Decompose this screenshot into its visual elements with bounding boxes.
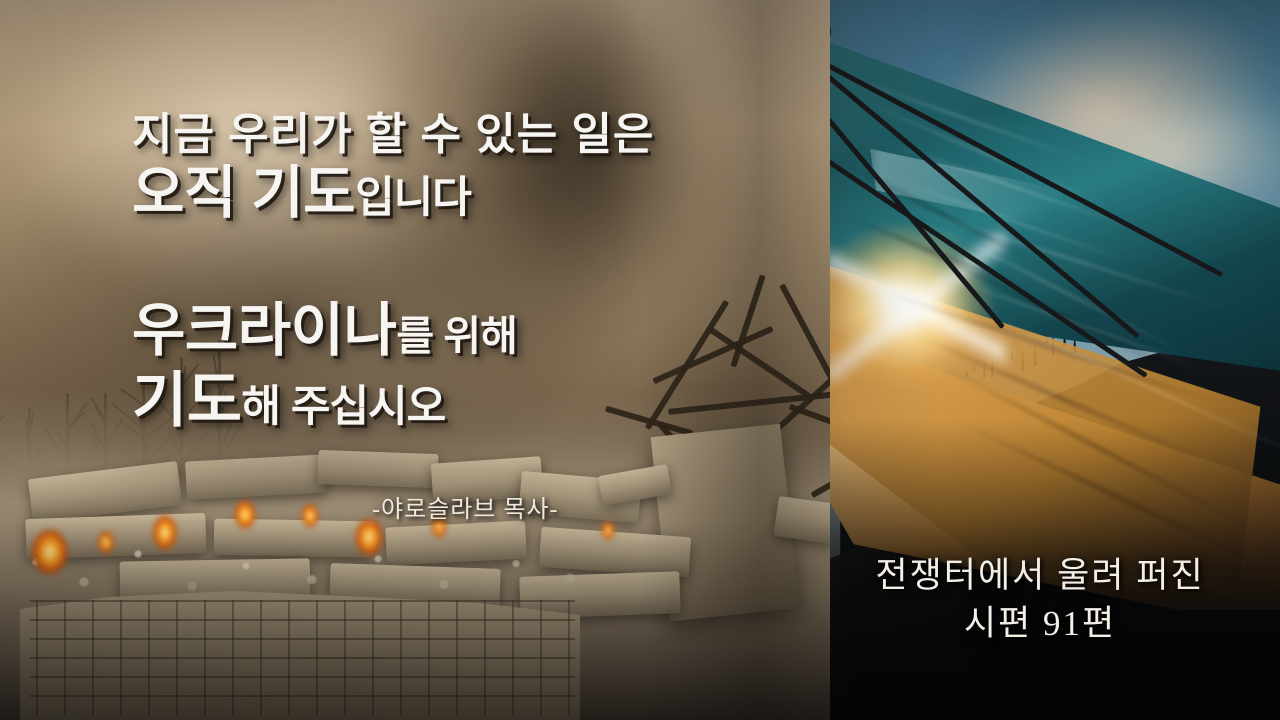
mortar-column	[344, 600, 346, 715]
mortar-column	[204, 600, 206, 715]
mortar-column	[232, 600, 234, 715]
headline-line-1: 지금 우리가 할 수 있는 일은	[132, 112, 812, 159]
headline-line-2: 오직 기도입니다	[132, 163, 812, 223]
mortar-column	[400, 600, 402, 715]
mortar-line	[30, 600, 575, 602]
flame-icon	[600, 512, 616, 542]
mortar-column	[512, 600, 514, 715]
headline-line-3-strong: 우크라이나	[132, 298, 396, 363]
headline-line-2-tail: 입니다	[355, 174, 471, 222]
mortar-line	[30, 676, 575, 678]
mortar-column	[428, 600, 430, 715]
mortar-column	[64, 600, 66, 715]
mortar-column	[456, 600, 458, 715]
headline-block-primary: 지금 우리가 할 수 있는 일은 오직 기도입니다	[132, 112, 812, 223]
headline-line-3-tail: 를 위해	[396, 313, 517, 359]
debris-slab	[317, 450, 438, 488]
headline-line-3: 우크라이나를 위해	[132, 300, 812, 363]
headline-block-secondary: 우크라이나를 위해 기도해 주십시오	[132, 300, 812, 433]
mortar-line	[30, 695, 575, 697]
mortar-column	[568, 600, 570, 715]
mortar-column	[288, 600, 290, 715]
headline-line-4-strong: 기도	[132, 367, 241, 434]
mortar-column	[540, 600, 542, 715]
mortar-line	[30, 638, 575, 640]
subtitle-block: 전쟁터에서 울려 퍼진 시편 91편	[830, 552, 1250, 647]
mortar-column	[120, 600, 122, 715]
poster-canvas: 지금 우리가 할 수 있는 일은 오직 기도입니다 우크라이나를 위해 기도해 …	[0, 0, 1280, 720]
subtitle-line-1: 전쟁터에서 울려 퍼진	[830, 552, 1250, 600]
headline-line-2-strong: 오직 기도	[132, 161, 355, 225]
debris-slab	[774, 496, 830, 544]
mortar-line	[30, 657, 575, 659]
mortar-column	[372, 600, 374, 715]
mortar-column	[92, 600, 94, 715]
headline-line-4-tail: 해 주십시오	[241, 383, 445, 431]
mortar-column	[316, 600, 318, 715]
sun-starburst-icon	[826, 232, 1006, 382]
flame-icon	[96, 520, 116, 556]
attribution-line: -야로슬라브 목사-	[372, 489, 559, 524]
subtitle-line-2: 시편 91편	[830, 600, 1250, 648]
headline-line-4: 기도해 주십시오	[132, 369, 812, 434]
mortar-line	[30, 619, 575, 621]
mortar-column	[36, 600, 38, 715]
mortar-column	[176, 600, 178, 715]
mortar-column	[148, 600, 150, 715]
mortar-column	[484, 600, 486, 715]
mortar-column	[260, 600, 262, 715]
